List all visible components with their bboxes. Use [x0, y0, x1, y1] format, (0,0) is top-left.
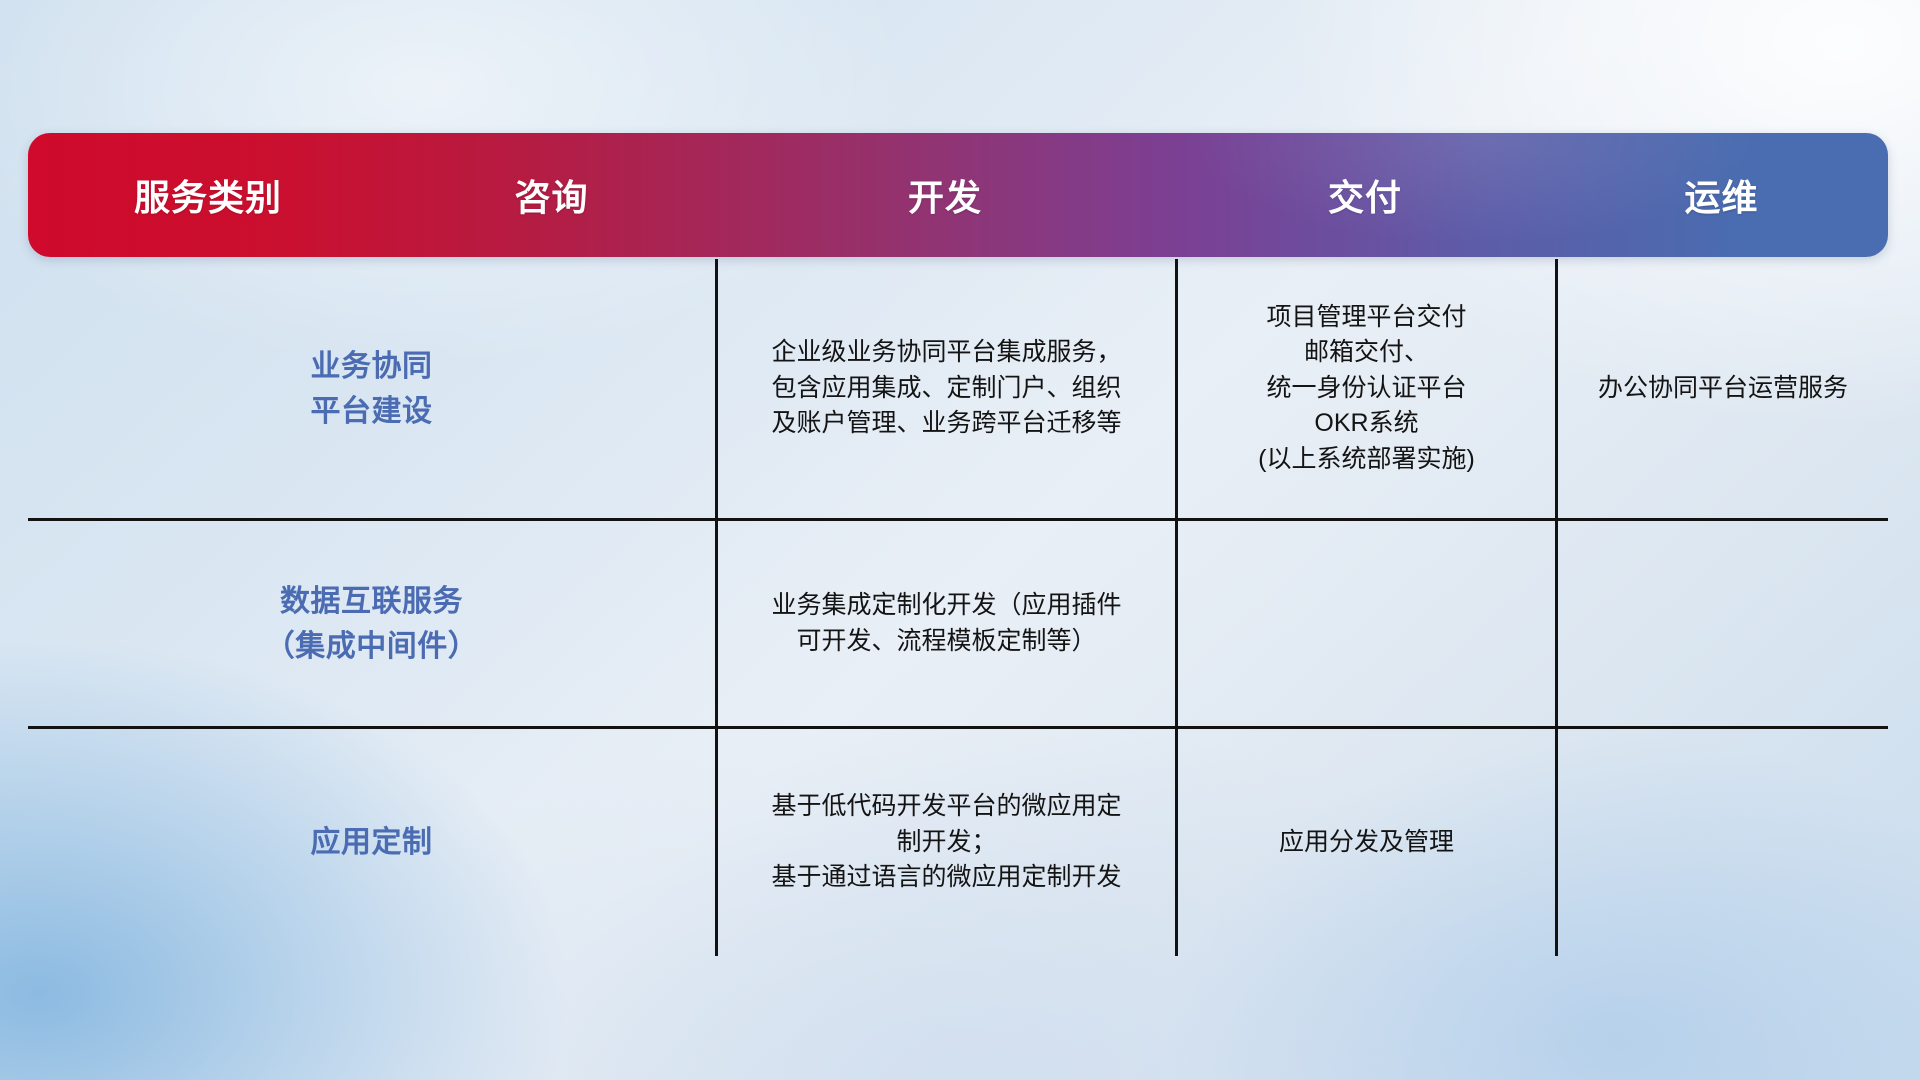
row-category-label: 业务协同 平台建设: [28, 259, 715, 518]
header-label-operations: 运维: [1684, 169, 1758, 221]
service-matrix-table: 服务类别 咨询 开发 交付 运维 业务协同 平台建设: [28, 133, 1888, 956]
table-row: 应用定制 基于低代码开发平台的微应用定 制开发； 基于通过语言的微应用定制开发 …: [28, 726, 1888, 956]
table-header-cell-category: 服务类别: [28, 133, 388, 257]
table-header-cell-consulting: 咨询: [388, 133, 715, 257]
cell-delivery: 项目管理平台交付 邮箱交付、 统一身份认证平台 OKR系统 (以上系统部署实施): [1175, 259, 1555, 518]
table-row: 数据互联服务 （集成中间件） 业务集成定制化开发（应用插件 可开发、流程模板定制…: [28, 518, 1888, 726]
cell-operations: [1555, 521, 1888, 726]
cell-delivery: [1175, 521, 1555, 726]
cell-operations: [1555, 729, 1888, 956]
table-header-row: 服务类别 咨询 开发 交付 运维: [28, 133, 1888, 257]
cell-development: 企业级业务协同平台集成服务， 包含应用集成、定制门户、组织 及账户管理、业务跨平…: [715, 259, 1175, 518]
header-label-consulting: 咨询: [514, 169, 588, 221]
row-category-label: 应用定制: [28, 729, 715, 956]
cell-development: 业务集成定制化开发（应用插件 可开发、流程模板定制等）: [715, 521, 1175, 726]
table-header-cell-development: 开发: [715, 133, 1175, 257]
cell-text: 基于低代码开发平台的微应用定 制开发； 基于通过语言的微应用定制开发: [771, 789, 1121, 896]
table-header-cell-operations: 运维: [1555, 133, 1888, 257]
cell-text: 企业级业务协同平台集成服务， 包含应用集成、定制门户、组织 及账户管理、业务跨平…: [771, 335, 1121, 442]
cell-text: 数据互联服务 （集成中间件）: [265, 579, 479, 669]
slide-canvas: 服务类别 咨询 开发 交付 运维 业务协同 平台建设: [0, 0, 1920, 1080]
cell-delivery: 应用分发及管理: [1175, 729, 1555, 956]
cell-text: 业务集成定制化开发（应用插件 可开发、流程模板定制等）: [771, 588, 1121, 659]
table-body: 业务协同 平台建设 企业级业务协同平台集成服务， 包含应用集成、定制门户、组织 …: [28, 259, 1888, 956]
cell-development: 基于低代码开发平台的微应用定 制开发； 基于通过语言的微应用定制开发: [715, 729, 1175, 956]
cell-text: 应用定制: [311, 820, 433, 865]
header-label-development: 开发: [908, 169, 982, 221]
cell-text: 业务协同 平台建设: [311, 344, 433, 434]
header-label-delivery: 交付: [1328, 169, 1402, 221]
table-row: 业务协同 平台建设 企业级业务协同平台集成服务， 包含应用集成、定制门户、组织 …: [28, 259, 1888, 518]
row-category-label: 数据互联服务 （集成中间件）: [28, 521, 715, 726]
cell-operations: 办公协同平台运营服务: [1555, 259, 1888, 518]
cell-text: 项目管理平台交付 邮箱交付、 统一身份认证平台 OKR系统 (以上系统部署实施): [1258, 300, 1475, 478]
cell-text: 应用分发及管理: [1279, 825, 1454, 861]
table-header-cell-delivery: 交付: [1175, 133, 1555, 257]
cell-text: 办公协同平台运营服务: [1598, 371, 1848, 407]
header-label-category: 服务类别: [134, 169, 282, 221]
